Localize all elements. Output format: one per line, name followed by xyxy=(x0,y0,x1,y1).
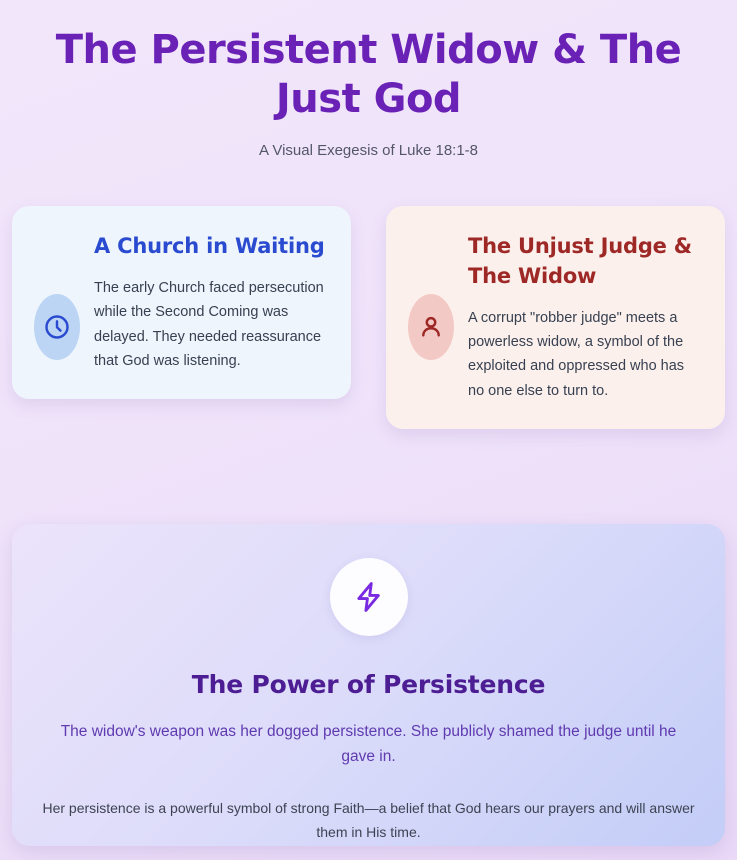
card-title: The Unjust Judge & The Widow xyxy=(468,232,701,292)
highlight-panel-power-of-persistence: The Power of Persistence The widow's wea… xyxy=(12,524,725,846)
panel-lead-text: The widow's weapon was her dogged persis… xyxy=(49,719,689,769)
clock-icon xyxy=(43,313,71,341)
panel-title: The Power of Persistence xyxy=(40,670,697,699)
page-title: The Persistent Widow & The Just God xyxy=(26,26,711,124)
info-cards-row: A Church in Waiting The early Church fac… xyxy=(12,206,725,429)
infographic-page: The Persistent Widow & The Just God A Vi… xyxy=(0,0,737,860)
panel-note-text: Her persistence is a powerful symbol of … xyxy=(40,797,697,844)
card-text: The early Church faced persecution while… xyxy=(94,276,327,373)
page-subtitle: A Visual Exegesis of Luke 18:1-8 xyxy=(26,142,711,159)
card-body: The Unjust Judge & The Widow A corrupt "… xyxy=(468,232,701,403)
clock-icon-badge xyxy=(34,294,80,360)
lightning-bolt-icon xyxy=(352,580,386,614)
user-icon-badge xyxy=(408,294,454,360)
lightning-bolt-icon-badge xyxy=(330,558,408,636)
user-icon xyxy=(417,313,445,341)
info-card-unjust-judge-and-widow: The Unjust Judge & The Widow A corrupt "… xyxy=(386,206,725,429)
card-text: A corrupt "robber judge" meets a powerle… xyxy=(468,306,701,403)
page-header: The Persistent Widow & The Just God A Vi… xyxy=(0,0,737,159)
info-card-church-in-waiting: A Church in Waiting The early Church fac… xyxy=(12,206,351,399)
card-title: A Church in Waiting xyxy=(94,232,327,262)
card-body: A Church in Waiting The early Church fac… xyxy=(94,232,327,373)
